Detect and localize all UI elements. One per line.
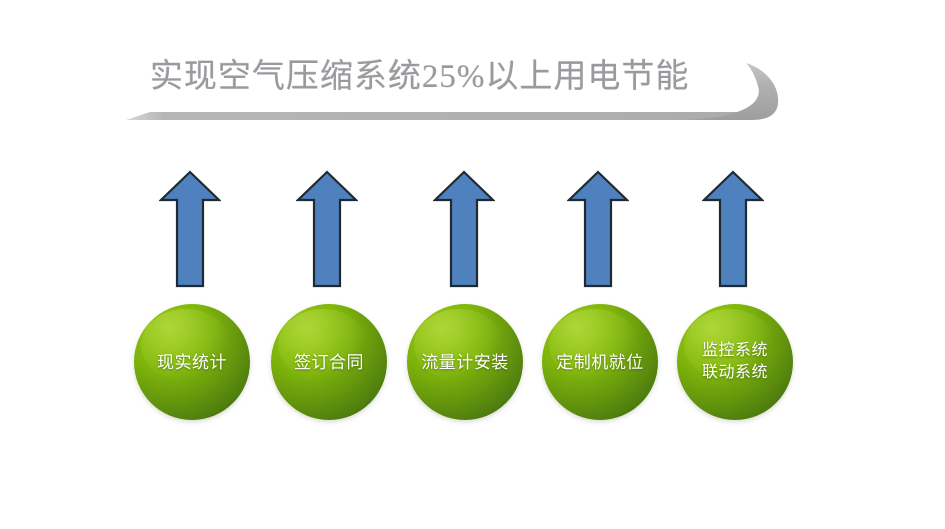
title-banner: 实现空气压缩系统25%以上用电节能 (0, 0, 945, 160)
process-step-circle-3[interactable]: 流量计安装 (407, 304, 523, 420)
arrow-up-1 (159, 170, 221, 288)
arrow-glyph (704, 172, 762, 286)
arrow-up-4 (567, 170, 629, 288)
arrow-glyph (569, 172, 627, 286)
arrow-up-2 (296, 170, 358, 288)
process-step-label-5: 监控系统 联动系统 (702, 340, 768, 384)
process-step-label-4: 定制机就位 (556, 352, 644, 373)
arrow-glyph (298, 172, 356, 286)
process-step-label-2: 签订合同 (294, 352, 364, 373)
slide-canvas: 实现空气压缩系统25%以上用电节能 现实统计 签订合同 (0, 0, 945, 529)
arrow-glyph (161, 172, 219, 286)
process-step-circle-2[interactable]: 签订合同 (271, 304, 387, 420)
banner-ribbon-shape (0, 0, 945, 160)
process-step-circle-5[interactable]: 监控系统 联动系统 (677, 304, 793, 420)
arrow-up-3 (433, 170, 495, 288)
banner-bar (126, 112, 752, 120)
process-step-label-1: 现实统计 (157, 352, 227, 373)
page-title: 实现空气压缩系统25%以上用电节能 (150, 50, 730, 105)
process-step-circle-1[interactable]: 现实统计 (134, 304, 250, 420)
process-step-label-3: 流量计安装 (421, 352, 509, 373)
arrow-glyph (435, 172, 493, 286)
banner-swoosh (686, 63, 778, 120)
arrow-up-5 (702, 170, 764, 288)
process-step-circle-4[interactable]: 定制机就位 (542, 304, 658, 420)
